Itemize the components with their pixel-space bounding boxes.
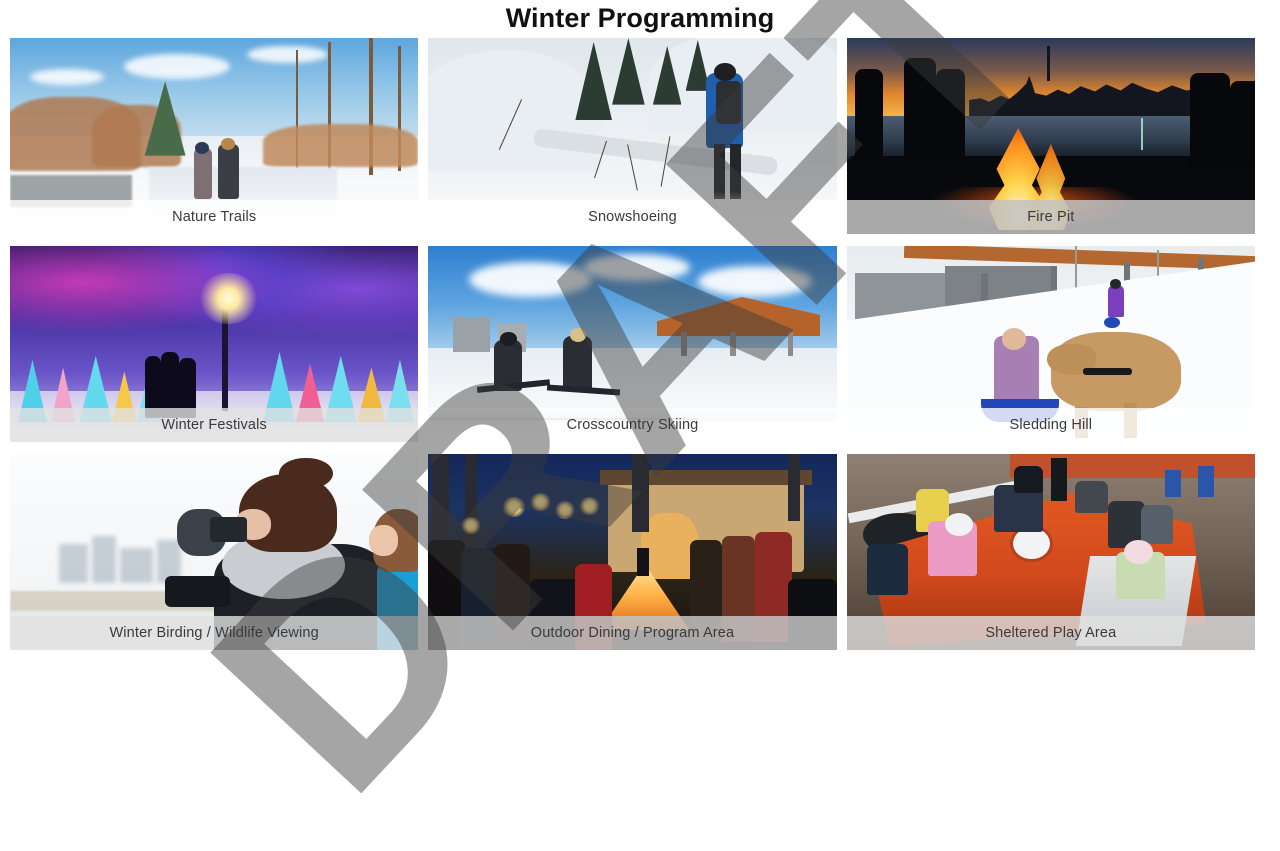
snow-mound [428,50,600,172]
reflection-light [1141,118,1143,149]
cloud [469,262,591,297]
caption-nature-trails: Nature Trails [10,200,418,234]
gallery-item-outdoor-dining[interactable]: Outdoor Dining / Program Area [428,454,836,650]
gallery-item-crosscountry-skiing[interactable]: Crosscountry Skiing [428,246,836,442]
child [867,544,908,595]
person-silhouette [936,69,965,163]
shrub [263,124,418,167]
walker [1108,285,1124,316]
walker-hat [221,138,235,150]
blue-post [1165,470,1181,497]
building [453,317,490,352]
gallery-item-fire-pit[interactable]: Fire Pit [847,38,1255,234]
string-light [579,497,599,515]
string-light [555,501,575,519]
caption-winter-festivals: Winter Festivals [10,408,418,442]
sleeve [165,576,230,607]
child [1014,466,1043,493]
person-silhouette [1190,73,1231,167]
caption-sledding-hill: Sledding Hill [847,408,1255,442]
child-face [1002,328,1027,350]
child [1141,505,1174,544]
image-gallery-grid: Nature Trails [10,38,1255,650]
distant-building [120,548,153,583]
page-title: Winter Programming [0,0,1280,36]
string-light [502,497,526,517]
child-hat [1124,540,1153,564]
skier-hat [570,328,586,342]
pavilion-post [681,332,687,356]
blue-post [1198,466,1214,497]
cloud [583,254,689,281]
hair-bun [279,458,332,489]
distant-building [92,536,116,583]
dog-harness [1083,368,1132,376]
walker [194,148,212,199]
caption-crosscountry-skiing: Crosscountry Skiing [428,408,836,442]
caption-snowshoeing: Snowshoeing [428,200,836,234]
cloud [698,266,812,297]
person-silhouette [855,69,884,163]
tree-trunk [788,454,800,521]
distant-building [59,544,88,583]
building-roof [1010,454,1255,478]
caption-outdoor-dining: Outdoor Dining / Program Area [428,616,836,650]
skier [563,336,592,391]
pavilion-post [788,332,794,356]
caption-sheltered-play: Sheltered Play Area [847,616,1255,650]
walker [218,144,238,199]
person-silhouette [1230,81,1255,167]
cloud [124,54,230,79]
caption-fire-pit: Fire Pit [847,200,1255,234]
person-silhouette [904,58,937,164]
caption-winter-birding: Winter Birding / Wildlife Viewing [10,616,418,650]
gallery-item-winter-festivals[interactable]: Winter Festivals [10,246,418,442]
winter-programming-page: Winter Programming [0,0,1280,659]
gallery-item-winter-birding[interactable]: Winter Birding / Wildlife Viewing [10,454,418,650]
child [1075,481,1108,512]
string-light [530,493,550,511]
cloud [30,69,103,85]
skier-hat [500,332,516,346]
backpack [716,81,740,124]
pavilion-post [730,332,736,356]
walker-hat [195,142,209,154]
gallery-item-sledding-hill[interactable]: Sledding Hill [847,246,1255,442]
cn-tower [1047,46,1050,81]
snow-mound [649,38,837,132]
tree-trunk [632,454,648,532]
child-face [369,525,398,556]
binoculars [210,517,247,542]
gallery-item-snowshoeing[interactable]: Snowshoeing [428,38,836,234]
smokestack [1051,458,1067,501]
gallery-item-nature-trails[interactable]: Nature Trails [10,38,418,234]
gallery-item-sheltered-play[interactable]: Sheltered Play Area [847,454,1255,650]
chimney [637,548,649,575]
